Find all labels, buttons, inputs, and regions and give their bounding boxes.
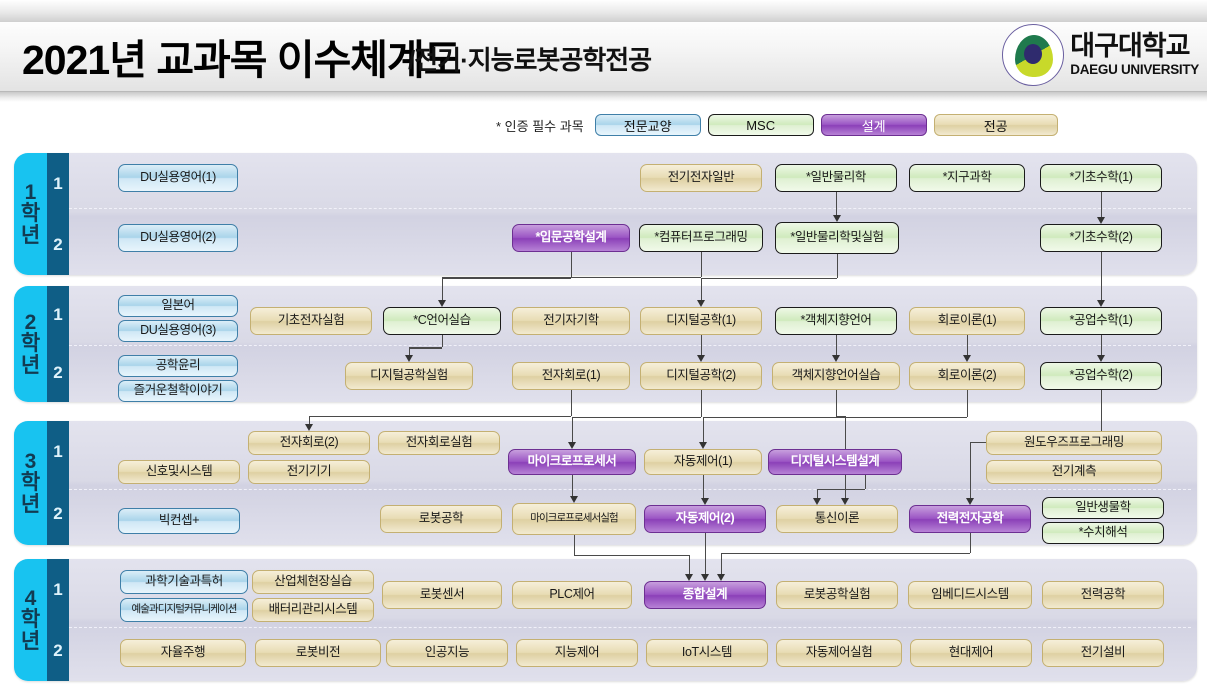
course-node-c22[interactable]: 디지털공학실험: [345, 362, 473, 390]
connector-arrowhead: [717, 574, 725, 581]
connector-arrowhead: [697, 355, 705, 362]
connector-line: [970, 442, 971, 498]
course-node-c14[interactable]: *C언어실습: [383, 307, 501, 335]
connector-arrowhead: [438, 300, 446, 307]
course-node-c31[interactable]: 신호및시스템: [118, 460, 240, 484]
course-node-c8[interactable]: *컴퓨터프로그래밍: [639, 224, 763, 252]
connector-line: [701, 390, 702, 417]
connector-line: [970, 533, 971, 553]
semester-divider-4: [69, 627, 1191, 628]
course-node-c16[interactable]: 디지털공학(1): [640, 307, 762, 335]
connector-arrowhead: [833, 215, 841, 222]
course-node-c40[interactable]: 자동제어(2): [644, 505, 766, 533]
course-node-c38[interactable]: 로봇공학: [380, 505, 502, 533]
course-node-c60[interactable]: 자동제어실험: [776, 639, 902, 667]
year-number-4: 4학년: [14, 559, 47, 681]
course-node-c47[interactable]: 산업체현장실습: [252, 570, 374, 594]
semester-label-2-2: 2: [47, 344, 69, 402]
course-node-c55[interactable]: 자율주행: [120, 639, 246, 667]
connector-arrowhead: [568, 442, 576, 449]
course-node-c25[interactable]: 객체지향언어실습: [772, 362, 900, 390]
course-node-c45[interactable]: 과학기술과특허: [120, 570, 248, 594]
connector-line: [442, 278, 443, 300]
connector-arrowhead: [963, 355, 971, 362]
connector-arrowhead: [832, 355, 840, 362]
semester-label-4-2: 2: [47, 620, 69, 681]
logo-name-en: DAEGU UNIVERSITY: [1070, 63, 1199, 77]
connector-line: [837, 254, 838, 278]
connector-line: [836, 416, 845, 417]
course-node-c35[interactable]: 디지털시스템설계: [768, 449, 902, 475]
connector-line: [836, 192, 837, 215]
course-node-c32[interactable]: 전기기기: [248, 460, 370, 484]
semester-divider-1: [69, 208, 1191, 209]
connector-arrowhead: [685, 574, 693, 581]
connector-line: [701, 278, 837, 279]
course-node-c34[interactable]: 자동제어(1): [644, 449, 762, 475]
course-node-c21[interactable]: 즐거운철학이야기: [118, 380, 238, 402]
semester-column-2: 1 2: [47, 286, 69, 402]
connector-line: [721, 553, 722, 574]
connector-line: [817, 489, 818, 498]
course-node-c33[interactable]: 마이크로프로세서: [508, 449, 636, 475]
connector-arrowhead: [699, 442, 707, 449]
year-tab-4: 4학년 1 2: [14, 559, 69, 681]
connector-line: [442, 335, 443, 347]
course-node-c50[interactable]: PLC제어: [512, 581, 632, 609]
connector-arrowhead: [1097, 217, 1105, 224]
connector-line: [701, 278, 702, 300]
course-node-c41[interactable]: 통신이론: [776, 505, 898, 533]
course-node-c48[interactable]: 배터리관리시스템: [252, 598, 374, 622]
semester-divider-2: [69, 345, 1191, 346]
course-node-c26[interactable]: 회로이론(2): [909, 362, 1025, 390]
course-node-c4[interactable]: *지구과학: [909, 164, 1025, 192]
connector-line: [721, 553, 970, 554]
course-node-c10[interactable]: *기초수학(2): [1040, 224, 1162, 252]
semester-divider-3: [69, 489, 1191, 490]
connector-arrowhead: [701, 498, 709, 505]
semester-label-3-2: 2: [47, 483, 69, 545]
semester-label-2-1: 1: [47, 286, 69, 344]
legend: * 인증 필수 과목 전문교양 MSC 설계 전공: [496, 114, 1058, 136]
semester-column-3: 1 2: [47, 421, 69, 545]
connector-line: [689, 555, 690, 574]
course-node-c51[interactable]: 종합설계: [644, 581, 766, 609]
course-node-c19[interactable]: *공업수학(1): [1040, 307, 1162, 335]
course-node-c61[interactable]: 현대제어: [910, 639, 1032, 667]
year-number-3: 3학년: [14, 421, 47, 545]
connector-line: [409, 347, 442, 348]
connector-arrowhead: [966, 498, 974, 505]
course-node-c9[interactable]: *일반물리학및실험: [775, 222, 899, 254]
course-node-c30[interactable]: 원도우즈프로그래밍: [986, 431, 1162, 455]
year-tab-1: 1학년 1 2: [14, 153, 69, 275]
connector-line: [701, 252, 702, 277]
course-node-c20[interactable]: 공학윤리: [118, 355, 238, 377]
header-shadow: [0, 92, 1207, 102]
connector-arrowhead: [570, 496, 578, 503]
connector-arrowhead: [813, 498, 821, 505]
connector-arrowhead: [841, 498, 849, 505]
course-node-c57[interactable]: 인공지능: [386, 639, 508, 667]
year-number-1: 1학년: [14, 153, 47, 275]
course-node-c6[interactable]: DU실용영어(2): [118, 224, 238, 252]
course-node-c24[interactable]: 디지털공학(2): [640, 362, 762, 390]
legend-note: * 인증 필수 과목: [496, 116, 584, 135]
course-node-c7[interactable]: *입문공학설계: [512, 224, 630, 252]
course-node-c44[interactable]: *수치해석: [1042, 522, 1164, 544]
connector-arrowhead: [701, 574, 709, 581]
connector-line: [703, 417, 704, 442]
course-node-c36[interactable]: 전기계측: [986, 460, 1162, 484]
course-node-c39[interactable]: 마이크로프로세서실험: [512, 503, 636, 535]
year-tab-3: 3학년 1 2: [14, 421, 69, 545]
course-node-c54[interactable]: 전력공학: [1042, 581, 1164, 609]
semester-label-3-1: 1: [47, 421, 69, 483]
course-node-c11[interactable]: 일본어: [118, 295, 238, 317]
semester-column-1: 1 2: [47, 153, 69, 275]
semester-column-4: 1 2: [47, 559, 69, 681]
course-node-c62[interactable]: 전기설비: [1042, 639, 1164, 667]
connector-line: [1101, 252, 1102, 300]
course-node-c52[interactable]: 로봇공학실험: [776, 581, 898, 609]
connector-line: [309, 416, 310, 424]
connector-line: [442, 278, 571, 279]
connector-line: [572, 417, 573, 442]
connector-line: [571, 390, 572, 416]
course-node-c2[interactable]: 전기전자일반: [640, 164, 762, 192]
course-node-c43[interactable]: 일반생물학: [1042, 497, 1164, 519]
university-seal-icon: [1002, 24, 1064, 86]
course-node-c58[interactable]: 지능제어: [516, 639, 638, 667]
course-node-c29[interactable]: 전자회로실험: [378, 431, 500, 455]
connector-line: [703, 417, 967, 418]
connector-line: [967, 335, 968, 355]
connector-line: [309, 416, 571, 417]
course-node-c17[interactable]: *객체지향언어: [775, 307, 897, 335]
course-node-c23[interactable]: 전자회로(1): [512, 362, 630, 390]
connector-line: [967, 390, 968, 417]
course-node-c53[interactable]: 임베디드시스템: [908, 581, 1032, 609]
connector-line: [574, 535, 575, 555]
connector-line: [703, 475, 704, 498]
legend-item-msc: MSC: [708, 114, 814, 136]
course-node-c37[interactable]: 빅컨셉+: [118, 508, 240, 534]
connector-arrowhead: [405, 355, 413, 362]
legend-item-design: 설계: [821, 114, 927, 136]
course-node-c1[interactable]: DU실용영어(1): [118, 164, 238, 192]
semester-label-1-2: 2: [47, 214, 69, 275]
connector-arrowhead: [697, 300, 705, 307]
course-node-c28[interactable]: 전자회로(2): [248, 431, 370, 455]
connector-arrowhead: [1097, 355, 1105, 362]
year-number-2: 2학년: [14, 286, 47, 402]
course-node-c5[interactable]: *기초수학(1): [1040, 164, 1162, 192]
connector-line: [836, 335, 837, 355]
course-node-c13[interactable]: 기초전자실험: [250, 307, 372, 335]
connector-line: [1101, 192, 1102, 217]
course-node-c46[interactable]: 예술과디지털커뮤니케이션: [120, 598, 248, 622]
connector-line: [705, 533, 706, 574]
connector-line: [572, 417, 701, 418]
logo-name-kr: 대구대학교: [1070, 33, 1199, 60]
connector-line: [1101, 335, 1102, 355]
connector-line: [572, 475, 573, 496]
connector-line: [409, 347, 410, 355]
course-node-c3[interactable]: *일반물리학: [775, 164, 897, 192]
semester-label-1-1: 1: [47, 153, 69, 214]
course-node-c12[interactable]: DU실용영어(3): [118, 320, 238, 342]
year-tab-2: 2학년 1 2: [14, 286, 69, 402]
header-top-gradient: [0, 0, 1207, 22]
connector-line: [701, 335, 702, 355]
semester-label-4-1: 1: [47, 559, 69, 620]
connector-line: [574, 555, 689, 556]
connector-arrowhead: [305, 424, 313, 431]
page-title: 2021년 교과목 이수체계도: [22, 26, 460, 86]
course-node-c42[interactable]: 전력전자공학: [909, 505, 1031, 533]
course-node-c56[interactable]: 로봇비전: [255, 639, 381, 667]
connector-arrowhead: [1097, 300, 1105, 307]
course-node-c18[interactable]: 회로이론(1): [909, 307, 1025, 335]
course-node-c15[interactable]: 전기자기학: [512, 307, 630, 335]
course-node-c27[interactable]: *공업수학(2): [1040, 362, 1162, 390]
connector-line: [571, 252, 572, 278]
legend-item-major: 전공: [934, 114, 1058, 136]
page-subtitle: /전기·지능로봇공학전공: [408, 40, 651, 77]
connector-line: [817, 489, 865, 490]
course-node-c59[interactable]: IoT시스템: [646, 639, 768, 667]
connector-line: [836, 390, 837, 416]
legend-item-blue: 전문교양: [595, 114, 701, 136]
course-node-c49[interactable]: 로봇센서: [382, 581, 502, 609]
university-logo: 대구대학교 DAEGU UNIVERSITY: [1002, 24, 1199, 86]
